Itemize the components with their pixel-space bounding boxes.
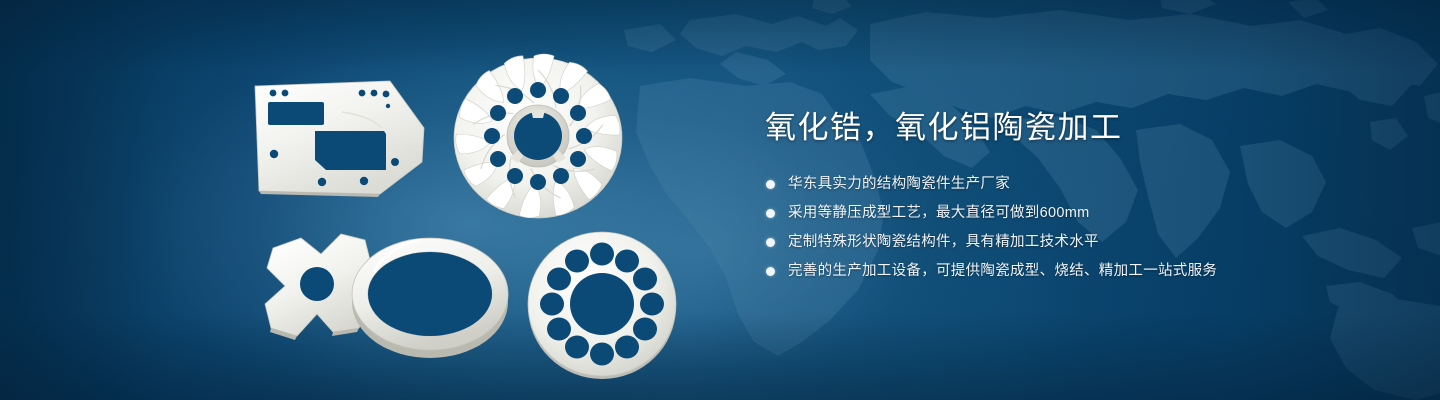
list-item: 完善的生产加工设备，可提供陶瓷成型、烧结、精加工一站式服务 [766,262,1385,281]
feature-text: 完善的生产加工设备，可提供陶瓷成型、烧结、精加工一站式服务 [788,262,1217,281]
banner-headline: 氧化锆，氧化铝陶瓷加工 [765,108,1385,148]
bullet-dot-icon [766,267,775,276]
feature-text: 采用等静压成型工艺，最大直径可做到600mm [788,204,1089,223]
bullet-dot-icon [766,238,775,247]
banner-copy: 氧化锆，氧化铝陶瓷加工 华东具实力的结构陶瓷件生产厂家 采用等静压成型工艺，最大… [765,108,1385,291]
feature-text: 定制特殊形状陶瓷结构件，具有精加工技术水平 [788,233,1099,252]
list-item: 华东具实力的结构陶瓷件生产厂家 [766,175,1385,194]
list-item: 定制特殊形状陶瓷结构件，具有精加工技术水平 [766,233,1385,252]
bullet-dot-icon [766,209,775,218]
list-item: 采用等静压成型工艺，最大直径可做到600mm [766,204,1385,223]
bullet-dot-icon [766,180,775,189]
promo-banner: 氧化锆，氧化铝陶瓷加工 华东具实力的结构陶瓷件生产厂家 采用等静压成型工艺，最大… [0,0,1440,400]
feature-list: 华东具实力的结构陶瓷件生产厂家 采用等静压成型工艺，最大直径可做到600mm 定… [766,175,1385,281]
feature-text: 华东具实力的结构陶瓷件生产厂家 [788,175,1010,194]
